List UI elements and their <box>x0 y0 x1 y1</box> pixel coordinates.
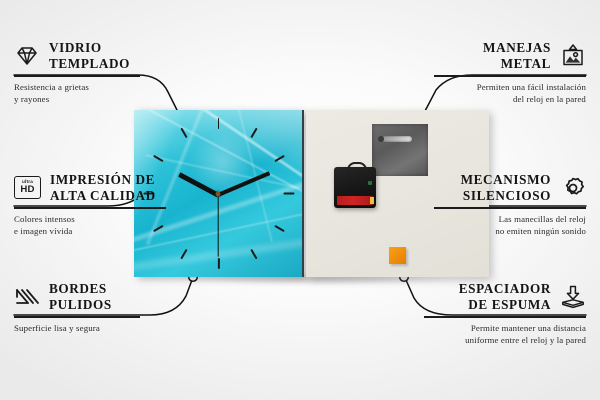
title-underline <box>434 75 586 76</box>
clock-mechanism <box>334 167 376 208</box>
gear-icon <box>560 176 586 200</box>
feature-vidrio-templado: VIDRIO TEMPLADO Resistencia a grietas y … <box>14 40 140 105</box>
title-underline <box>424 316 586 317</box>
feature-description: Colores intensos e imagen vívida <box>14 213 166 237</box>
feature-description: Superficie lisa y segura <box>14 322 140 334</box>
feature-espaciador-espuma: ESPACIADOR DE ESPUMA Permite mantener un… <box>424 281 586 346</box>
clock-second-hand <box>217 195 218 257</box>
feature-title: MANEJAS METAL <box>483 40 551 71</box>
feature-impresion-alta-calidad: ultra HD IMPRESIÓN DE ALTA CALIDAD Color… <box>14 172 166 237</box>
feature-title: VIDRIO TEMPLADO <box>49 40 130 71</box>
clock-tick <box>218 258 220 269</box>
feature-description: Resistencia a grietas y rayones <box>14 81 140 105</box>
title-underline <box>14 207 166 208</box>
title-underline <box>14 75 140 76</box>
mechanism-label <box>368 181 372 185</box>
clock-tick <box>274 225 284 232</box>
feature-title: BORDES PULIDOS <box>49 281 112 312</box>
feature-description: Permiten una fácil instalación del reloj… <box>434 81 586 105</box>
title-underline <box>434 207 586 208</box>
feature-title: MECANISMO SILENCIOSO <box>461 172 551 203</box>
feature-mecanismo-silencioso: MECANISMO SILENCIOSO Las manecillas del … <box>434 172 586 237</box>
battery-terminal <box>370 197 374 204</box>
picture-frame-hook-icon <box>560 44 586 68</box>
feature-bordes-pulidos: BORDES PULIDOS Superficie lisa y segura <box>14 281 140 334</box>
foam-spacer-arrow-icon <box>560 285 586 309</box>
battery <box>337 196 373 205</box>
feature-title: ESPACIADOR DE ESPUMA <box>459 281 551 312</box>
clock-tick <box>218 118 220 129</box>
mechanism-hook-loop <box>347 162 367 172</box>
infographic-canvas: VIDRIO TEMPLADO Resistencia a grietas y … <box>0 0 600 400</box>
hanger-slot <box>382 136 412 142</box>
hanger-hole <box>378 136 384 142</box>
clock-pivot <box>216 191 221 196</box>
feature-title: IMPRESIÓN DE ALTA CALIDAD <box>50 172 156 203</box>
feature-description: Las manecillas del reloj no emiten ningú… <box>434 213 586 237</box>
title-underline <box>14 316 140 317</box>
clock-tick <box>283 193 294 195</box>
diamond-icon <box>14 44 40 68</box>
ultra-hd-badge-icon: ultra HD <box>14 176 41 199</box>
feature-manejas-metal: MANEJAS METAL Permiten una fácil instala… <box>434 40 586 105</box>
metal-hanger-plate <box>372 124 428 176</box>
polished-edges-icon <box>14 285 40 309</box>
foam-spacer <box>389 247 406 264</box>
feature-description: Permite mantener una distancia uniforme … <box>424 322 586 346</box>
